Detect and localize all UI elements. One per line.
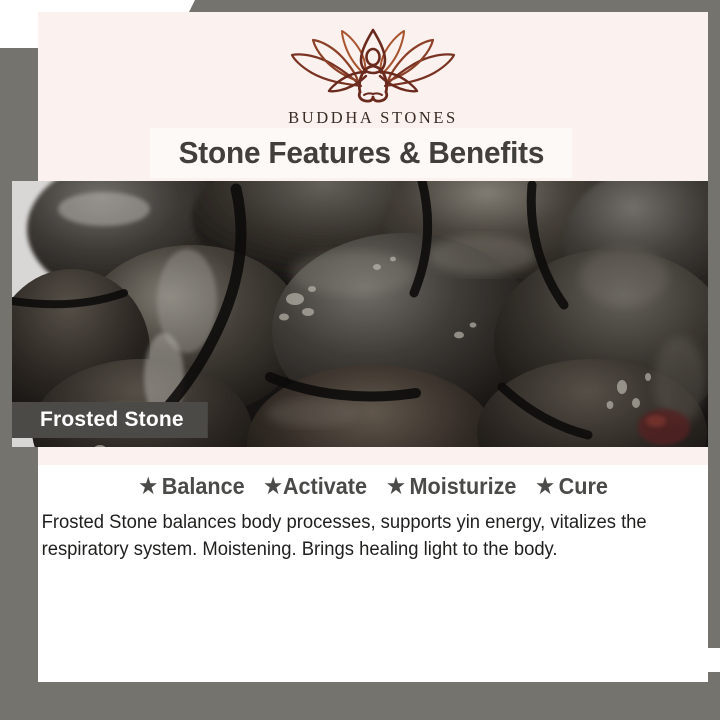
brand-logo: BUDDHA STONES [38,26,708,128]
stone-name-tag: Frosted Stone [12,402,208,438]
content-section: ★ Balance ★ Activate ★ Moisturize ★ Cure… [38,465,708,682]
star-icon: ★ [264,476,282,497]
benefit-item-moisturize: ★ Moisturize [387,473,516,500]
star-icon: ★ [536,476,554,497]
benefit-label: Cure [559,473,608,500]
brand-wordmark: BUDDHA STONES [288,108,458,128]
star-icon: ★ [139,476,157,497]
benefit-item-balance: ★ Balance [139,473,244,500]
lotus-meditation-icon [288,26,458,104]
separator-strip [38,447,708,465]
benefit-label: Activate [283,473,367,500]
benefit-label: Moisturize [410,473,517,500]
stone-features-infographic: BUDDHA STONES Stone Features & Benefits [0,0,720,720]
benefits-row: ★ Balance ★ Activate ★ Moisturize ★ Cure [38,473,708,500]
benefit-item-activate: ★ Activate [264,473,367,500]
stone-description: Frosted Stone balances body processes, s… [28,510,688,564]
benefit-item-cure: ★ Cure [536,473,608,500]
title-banner: Stone Features & Benefits [150,128,572,178]
stone-name-label: Frosted Stone [40,408,184,432]
star-icon: ★ [387,476,405,497]
page-title: Stone Features & Benefits [178,135,544,171]
benefit-label: Balance [162,473,245,500]
